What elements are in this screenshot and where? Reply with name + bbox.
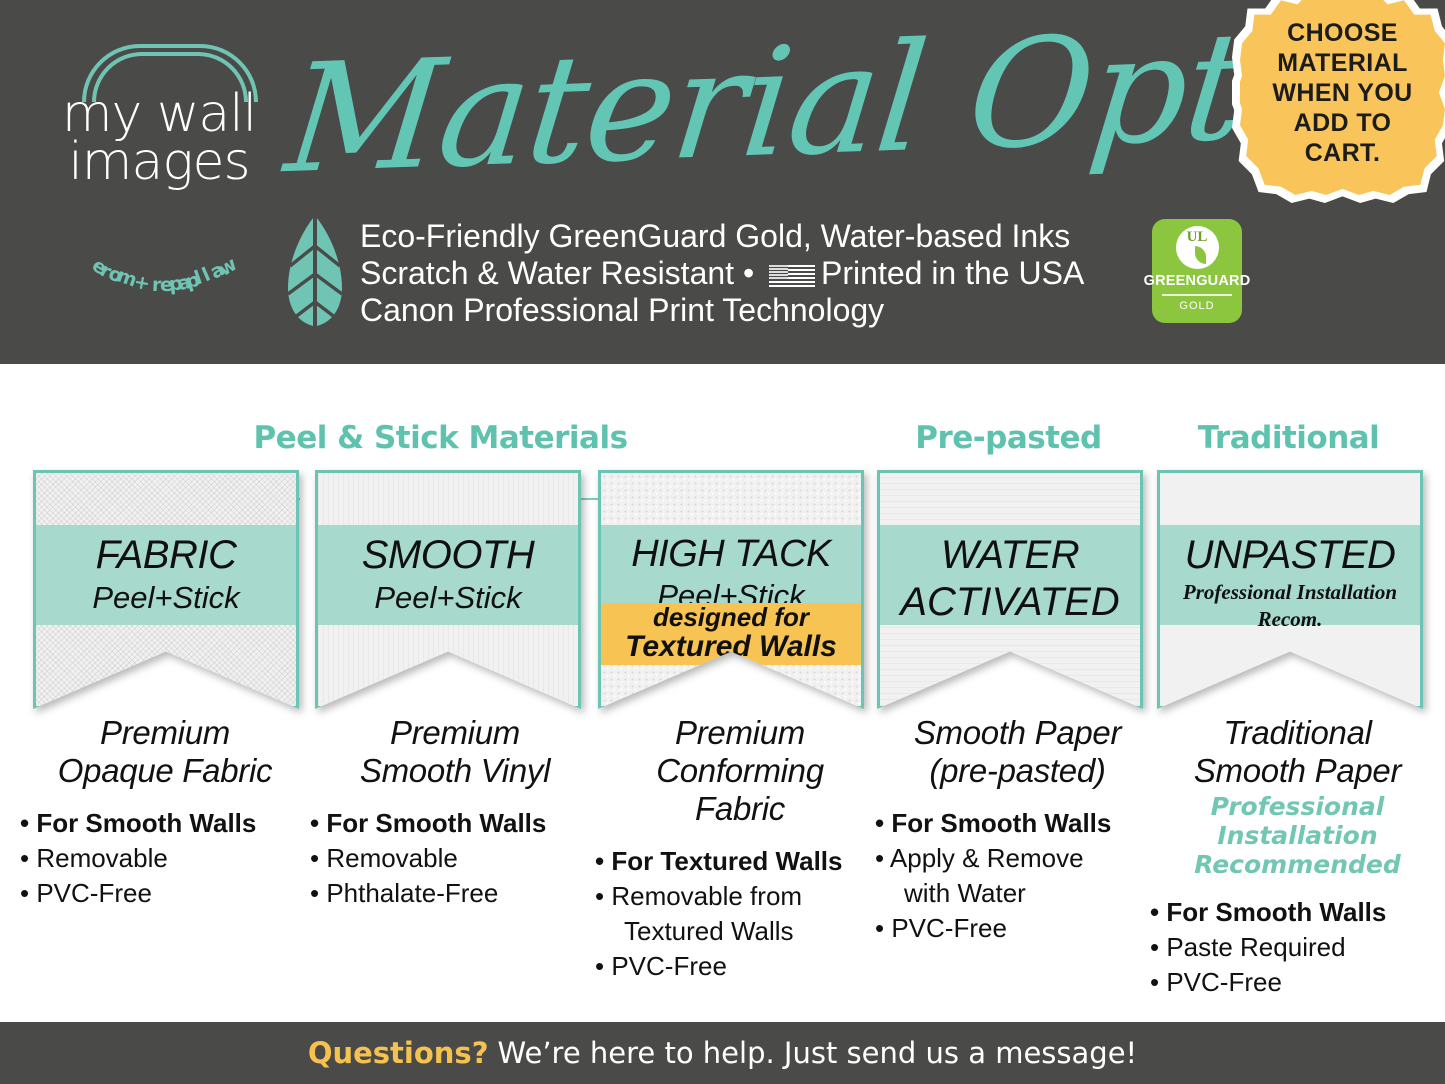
material-bullet: • PVC-Free (595, 949, 885, 984)
material-bullet: • For Smooth Walls (1150, 895, 1445, 930)
banner-label-band: SMOOTHPeel+Stick (318, 525, 578, 625)
material-bullets: • For Smooth Walls• Removable• Phthalate… (310, 806, 600, 911)
footer-message: We’re here to help. Just send us a messa… (498, 1036, 1138, 1070)
greenguard-name: GREENGUARD (1144, 273, 1251, 289)
logo-line-2: images (34, 136, 284, 188)
material-subnote-line-1: Recommended (1150, 850, 1445, 879)
banner-body: WATERACTIVATED (877, 470, 1143, 709)
material-heading-line-0: Premium (595, 714, 885, 752)
banner-label-band: WATERACTIVATED (880, 525, 1140, 625)
material-bullet: • Removable (310, 841, 600, 876)
material-bullet: • For Smooth Walls (20, 806, 310, 841)
banner-subtitle: Peel+Stick (318, 579, 578, 616)
material-heading-line-0: Traditional (1150, 714, 1445, 752)
material-bullets: • For Smooth Walls• Removable• PVC-Free (20, 806, 310, 911)
material-bullet: • Removable fromTextured Walls (595, 879, 885, 949)
usa-flag-icon (769, 262, 815, 288)
logo-tagline: wallpaper + more (56, 198, 268, 242)
material-heading: PremiumSmooth Vinyl (310, 714, 600, 790)
material-description-4: TraditionalSmooth PaperProfessional Inst… (1150, 714, 1445, 1000)
material-banners: FABRICPeel+StickSMOOTHPeel+StickHIGH TAC… (0, 470, 1445, 720)
group-heading-2: Traditional (566, 420, 1445, 456)
material-heading-line-0: Smooth Paper (875, 714, 1160, 752)
feature-line-3-text: Printed in the USA (821, 255, 1084, 291)
banner-title: UNPASTED (1160, 525, 1420, 579)
feature-line-2: Scratch & Water Resistant • Printed in (360, 255, 1150, 292)
banner-highlight-line-1: designed for (601, 603, 861, 631)
banner-body: UNPASTEDProfessional Installation Recom. (1157, 470, 1423, 709)
feature-list: Eco-Friendly GreenGuard Gold, Water-base… (360, 218, 1150, 329)
material-bullet: • Apply & Removewith Water (875, 841, 1160, 911)
material-banner-4[interactable]: UNPASTEDProfessional Installation Recom. (1157, 470, 1423, 709)
material-banner-0[interactable]: FABRICPeel+Stick (33, 470, 299, 709)
material-subnote-line-0: Professional Installation (1150, 792, 1445, 850)
page-title: Material Options (278, 0, 1233, 218)
footer-highlight: Questions? (308, 1036, 489, 1070)
material-bullets: • For Textured Walls• Removable fromText… (595, 844, 885, 984)
tagline-char: r (151, 274, 161, 296)
footer-bar: Questions? We’re here to help. Just send… (0, 1022, 1445, 1084)
leaf-icon (278, 216, 352, 328)
material-heading-line-1: Smooth Paper (1150, 752, 1445, 790)
material-heading: PremiumOpaque Fabric (20, 714, 310, 790)
banner-title: SMOOTH (318, 525, 578, 579)
greenguard-gold-badge: UL GREENGUARD GOLD (1152, 219, 1242, 323)
banner-body: FABRICPeel+Stick (33, 470, 299, 709)
banner-subtitle: Professional Installation Recom. (1160, 579, 1420, 633)
material-heading-line-1: Opaque Fabric (20, 752, 310, 790)
material-banner-2[interactable]: HIGH TACKPeel+Stickdesigned forTextured … (598, 470, 864, 709)
material-subnote: Professional InstallationRecommended (1150, 792, 1445, 879)
banner-title: HIGH TACK (601, 525, 861, 577)
material-description-0: PremiumOpaque Fabric• For Smooth Walls• … (20, 714, 310, 911)
material-heading-line-1: Conforming (595, 752, 885, 790)
material-heading: TraditionalSmooth Paper (1150, 714, 1445, 790)
banner-highlight-band: designed forTextured Walls (601, 603, 861, 665)
material-bullet: • For Smooth Walls (310, 806, 600, 841)
material-heading-line-2: Fabric (595, 790, 885, 828)
banner-title: WATER (880, 525, 1140, 579)
brand-logo: my wall images wallpaper + more (34, 22, 284, 227)
banner-body: HIGH TACKPeel+Stickdesigned forTextured … (598, 470, 864, 709)
material-bullet: • Removable (20, 841, 310, 876)
material-bullet: • For Textured Walls (595, 844, 885, 879)
banner-title: FABRIC (36, 525, 296, 579)
feature-line-1: Eco-Friendly GreenGuard Gold, Water-base… (360, 218, 1150, 255)
header-banner: my wall images wallpaper + more Material… (0, 0, 1445, 364)
banner-label-band: FABRICPeel+Stick (36, 525, 296, 625)
material-banner-1[interactable]: SMOOTHPeel+Stick (315, 470, 581, 709)
material-bullet-cont: Textured Walls (624, 916, 794, 946)
ul-mark-icon: UL (1176, 226, 1219, 269)
material-bullet: • PVC-Free (1150, 965, 1445, 1000)
group-headings: Peel & Stick MaterialsPre-pastedTraditio… (0, 420, 1445, 464)
greenguard-divider (1162, 294, 1232, 296)
material-bullets: • For Smooth Walls• Apply & Removewith W… (875, 806, 1160, 946)
banner-subtitle: Peel+Stick (36, 579, 296, 616)
material-description-2: PremiumConformingFabric• For Textured Wa… (595, 714, 885, 984)
material-description-1: PremiumSmooth Vinyl• For Smooth Walls• R… (310, 714, 600, 911)
material-heading-line-1: Smooth Vinyl (310, 752, 600, 790)
banner-body: SMOOTHPeel+Stick (315, 470, 581, 709)
material-bullet: • Phthalate-Free (310, 876, 600, 911)
material-bullet: • For Smooth Walls (875, 806, 1160, 841)
material-description-3: Smooth Paper(pre-pasted)• For Smooth Wal… (875, 714, 1160, 946)
material-bullet-cont: with Water (904, 878, 1026, 908)
material-heading: Smooth Paper(pre-pasted) (875, 714, 1160, 790)
banner-highlight-line-2: Textured Walls (601, 631, 861, 663)
material-bullets: • For Smooth Walls• Paste Required• PVC-… (1150, 895, 1445, 1000)
feature-line-4: Canon Professional Print Technology (360, 292, 1150, 329)
material-bullet: • Paste Required (1150, 930, 1445, 965)
feature-line-2-text: Scratch & Water Resistant • (360, 255, 763, 291)
material-heading-line-1: (pre-pasted) (875, 752, 1160, 790)
material-heading-line-0: Premium (20, 714, 310, 752)
material-bullet: • PVC-Free (875, 911, 1160, 946)
greenguard-level: GOLD (1179, 300, 1214, 312)
banner-label-band: UNPASTEDProfessional Installation Recom. (1160, 525, 1420, 625)
material-heading: PremiumConformingFabric (595, 714, 885, 828)
tagline-char: e (160, 274, 174, 296)
banner-label-band: HIGH TACKPeel+Stick (601, 525, 861, 603)
banner-subtitle: ACTIVATED (880, 579, 1140, 625)
choose-material-badge: CHOOSE MATERIAL WHEN YOU ADD TO CART. (1240, 0, 1445, 195)
greenguard-leaf-icon (1195, 246, 1206, 264)
ul-text: UL (1176, 229, 1219, 246)
material-heading-line-0: Premium (310, 714, 600, 752)
material-banner-3[interactable]: WATERACTIVATED (877, 470, 1143, 709)
material-bullet: • PVC-Free (20, 876, 310, 911)
materials-section: Peel & Stick MaterialsPre-pastedTraditio… (0, 364, 1445, 1022)
